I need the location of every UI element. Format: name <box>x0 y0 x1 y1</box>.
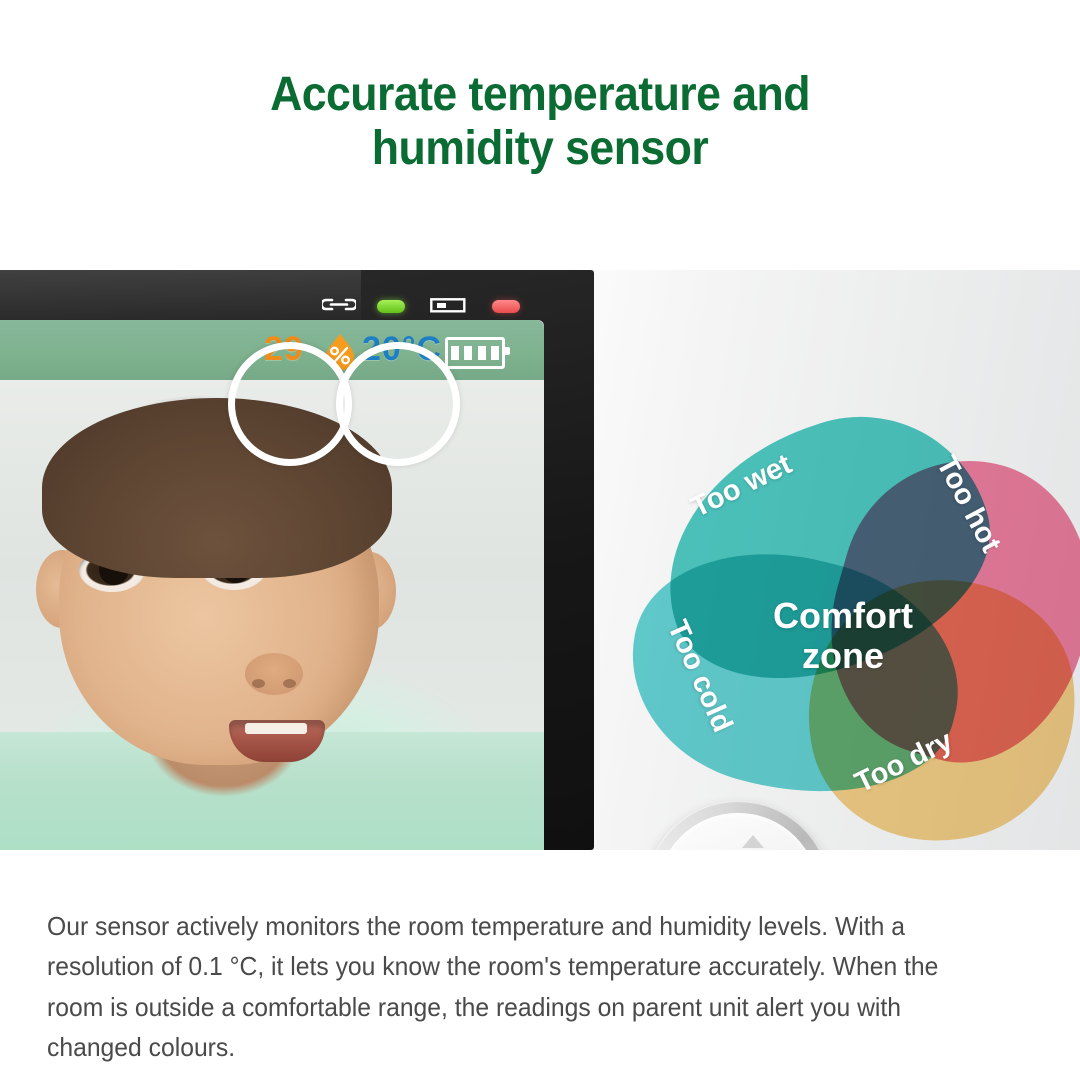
page-title-line-2: humidity sensor <box>38 122 1042 176</box>
led-red-indicator <box>492 300 520 313</box>
parent-unit-body <box>545 270 1080 850</box>
humidity-highlight-ring <box>228 342 352 466</box>
baby-nose <box>245 653 303 695</box>
product-photo-band: 29 20°C <box>0 270 1080 850</box>
bezel-indicator-row <box>0 282 594 312</box>
page-title-line-1: Accurate temperature and <box>270 68 810 121</box>
battery-full-icon <box>445 337 505 369</box>
chevron-up-icon[interactable] <box>742 835 764 848</box>
page-root: Accurate temperature and humidity sensor <box>0 0 1080 1080</box>
screen-icon <box>430 298 466 313</box>
device-bezel: 29 20°C <box>0 270 594 850</box>
page-title: Accurate temperature and humidity sensor <box>38 68 1042 176</box>
body-copy: Our sensor actively monitors the room te… <box>47 906 988 1067</box>
lcd-screen: 29 20°C <box>0 320 544 850</box>
led-green-indicator <box>377 300 405 313</box>
temperature-highlight-ring <box>336 342 460 466</box>
link-icon <box>322 298 356 311</box>
